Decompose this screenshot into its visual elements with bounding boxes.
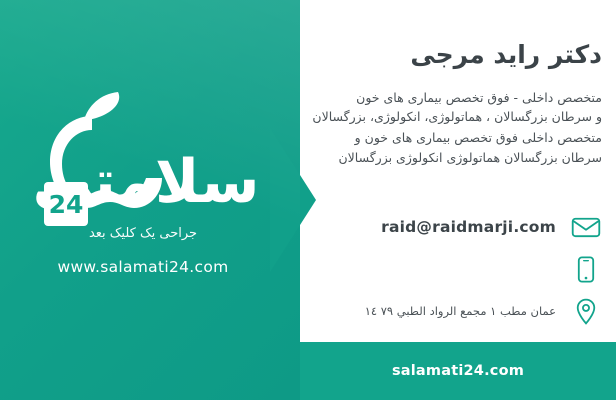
specialty-line-1: متخصص داخلی - فوق تخصص بیماری های خون <box>312 88 602 107</box>
business-card: سلامتي 24 جراحی یک کلیک بعد www.salamati… <box>0 0 616 400</box>
specialty2-line-1: متخصص داخلی فوق تخصص بیماری های <box>392 130 602 145</box>
logo-block: سلامتي 24 جراحی یک کلیک بعد www.salamati… <box>18 86 268 316</box>
location-pin-icon <box>570 296 602 326</box>
envelope-icon <box>570 212 602 242</box>
contact-phone-row[interactable]: ٠٧٩ ١٤ مجمع الرواد الطبي عمان مطب <box>312 252 602 286</box>
footer-site-url[interactable]: salamati24.com <box>392 363 524 379</box>
logo-tagline: جراحی یک کلیک بعد <box>18 226 268 241</box>
phone-text[interactable]: ٠٧٩ ١٤ مجمع الرواد الطبي عمان مطب <box>312 252 556 286</box>
email-text[interactable]: raid@raidmarji.com <box>312 210 556 244</box>
specialty-lines-primary: متخصص داخلی - فوق تخصص بیماری های خون و … <box>312 88 602 127</box>
card-details: دکتر راید مرجی متخصص داخلی - فوق تخصص بی… <box>308 0 616 342</box>
phone-icon <box>570 254 602 284</box>
footer-bar: salamati24.com <box>300 342 616 400</box>
contact-email-row[interactable]: raid@raidmarji.com <box>312 210 602 244</box>
specialty-lines-secondary: متخصص داخلی فوق تخصص بیماری های خون و سر… <box>312 128 602 168</box>
doctor-name: دکتر راید مرجی <box>410 40 602 69</box>
logo-website-url[interactable]: www.salamati24.com <box>18 258 268 276</box>
specialty2-line-3: انکولوژی بزرگسالان <box>338 150 442 165</box>
logo-badge-24: 24 <box>44 182 88 226</box>
contact-address-row[interactable]: عمان مطب ١ مجمع الرواد الطبي ٧٩ ١٤ <box>312 294 602 328</box>
specialty-line-2: و سرطان بزرگسالان ، هماتولوژی، انکولوژی،… <box>312 107 602 126</box>
address-text: عمان مطب ١ مجمع الرواد الطبي ٧٩ ١٤ <box>312 294 556 328</box>
